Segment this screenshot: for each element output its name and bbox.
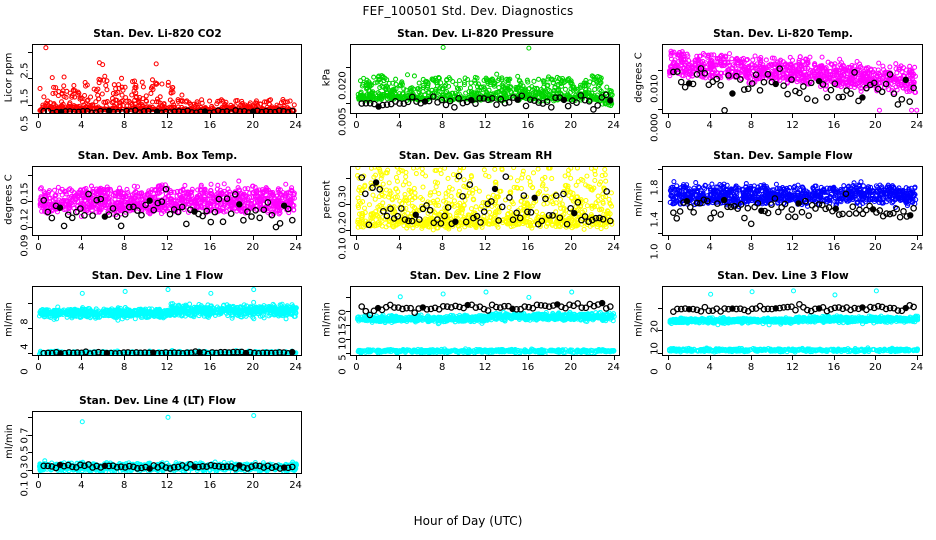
panel-3: Stan. Dev. Li-820 Temp.0.0000.0100481216… [630, 28, 936, 150]
plot-area [350, 166, 620, 236]
x-tick-mark [81, 236, 82, 240]
x-tick-mark [296, 114, 297, 118]
x-tick-mark [614, 236, 615, 240]
y-axis-label: kPa [322, 43, 333, 113]
x-tick-label: 8 [736, 242, 766, 253]
x-tick-mark [124, 236, 125, 240]
y-axis-label: degrees C [4, 165, 15, 235]
y-tick-label: 0.020 [338, 65, 349, 105]
x-tick-mark [614, 114, 615, 118]
x-tick-mark [167, 114, 168, 118]
x-tick-mark [81, 474, 82, 478]
x-tick-label: 4 [695, 242, 725, 253]
x-tick-label: 4 [384, 362, 414, 373]
panel-9: Stan. Dev. Line 3 Flow0102004812162024ml… [630, 270, 936, 392]
x-tick-mark [124, 356, 125, 360]
x-tick-mark [834, 236, 835, 240]
x-tick-mark [442, 114, 443, 118]
x-tick-label: 0 [653, 242, 683, 253]
x-tick-mark [442, 236, 443, 240]
plot-area [662, 286, 923, 356]
x-tick-mark [356, 236, 357, 240]
x-tick-label: 0 [23, 242, 53, 253]
x-tick-mark [751, 114, 752, 118]
panel-2: Stan. Dev. Li-820 Pressure0.0050.0200481… [318, 28, 633, 150]
scatter-points [33, 167, 302, 236]
x-tick-label: 16 [513, 362, 543, 373]
x-tick-mark [124, 474, 125, 478]
panel-title: Stan. Dev. Li-820 Temp. [630, 28, 936, 40]
y-tick-label: 20 [650, 306, 661, 346]
x-tick-mark [571, 356, 572, 360]
x-tick-label: 4 [66, 362, 96, 373]
x-tick-label: 8 [109, 242, 139, 253]
x-tick-mark [399, 356, 400, 360]
panel-title: Stan. Dev. Line 2 Flow [318, 270, 633, 282]
x-tick-label: 8 [109, 362, 139, 373]
panel-5: Stan. Dev. Gas Stream RH0.100.200.300481… [318, 150, 633, 272]
plot-area [32, 411, 302, 474]
x-tick-mark [81, 356, 82, 360]
panel-title: Stan. Dev. Line 1 Flow [0, 270, 315, 282]
x-tick-mark [253, 236, 254, 240]
x-tick-mark [528, 114, 529, 118]
panel-6: Stan. Dev. Sample Flow1.01.41.8048121620… [630, 150, 936, 272]
x-tick-label: 24 [281, 242, 311, 253]
x-tick-label: 16 [195, 480, 225, 491]
x-tick-label: 8 [736, 120, 766, 131]
y-tick-label: 0.7 [20, 415, 31, 455]
panel-title: Stan. Dev. Gas Stream RH [318, 150, 633, 162]
plot-area [662, 44, 923, 114]
x-tick-label: 0 [341, 120, 371, 131]
x-tick-label: 12 [778, 362, 808, 373]
panel-title: Stan. Dev. Li-820 CO2 [0, 28, 315, 40]
panel-8: Stan. Dev. Line 2 Flow051015200481216202… [318, 270, 633, 392]
x-tick-label: 8 [427, 362, 457, 373]
panel-title: Stan. Dev. Line 3 Flow [630, 270, 936, 282]
x-tick-label: 24 [599, 362, 629, 373]
x-tick-label: 20 [556, 362, 586, 373]
scatter-points [663, 287, 923, 356]
x-tick-label: 0 [653, 120, 683, 131]
x-tick-label: 16 [195, 242, 225, 253]
scatter-points [663, 167, 923, 236]
x-tick-label: 12 [152, 120, 182, 131]
x-tick-mark [751, 236, 752, 240]
y-tick-label: 0.15 [20, 174, 31, 214]
panel-title: Stan. Dev. Line 4 (LT) Flow [0, 395, 315, 407]
x-tick-label: 4 [695, 120, 725, 131]
x-tick-mark [167, 236, 168, 240]
x-tick-label: 12 [152, 480, 182, 491]
x-tick-label: 12 [152, 242, 182, 253]
x-tick-mark [668, 114, 669, 118]
plot-area [32, 166, 302, 236]
x-tick-mark [917, 356, 918, 360]
x-tick-label: 24 [902, 242, 932, 253]
x-tick-mark [356, 356, 357, 360]
x-tick-label: 20 [860, 242, 890, 253]
x-tick-mark [399, 236, 400, 240]
y-axis-label: percent [322, 165, 333, 235]
x-tick-mark [917, 236, 918, 240]
x-tick-mark [38, 356, 39, 360]
x-tick-label: 12 [470, 362, 500, 373]
x-tick-mark [210, 356, 211, 360]
x-tick-mark [834, 356, 835, 360]
plot-area [32, 286, 302, 356]
x-tick-label: 0 [23, 480, 53, 491]
x-tick-mark [442, 356, 443, 360]
y-tick-label: 20 [338, 296, 349, 336]
x-tick-label: 4 [66, 480, 96, 491]
panel-4: Stan. Dev. Amb. Box Temp.0.090.120.15048… [0, 150, 315, 272]
x-tick-mark [356, 114, 357, 118]
y-tick-label: 1.8 [650, 168, 661, 208]
x-tick-mark [210, 236, 211, 240]
y-tick-label: 2.5 [20, 50, 31, 90]
x-tick-label: 24 [281, 120, 311, 131]
x-tick-mark [875, 236, 876, 240]
x-tick-label: 4 [384, 242, 414, 253]
x-tick-mark [751, 356, 752, 360]
scatter-points [33, 287, 302, 356]
x-tick-label: 20 [556, 120, 586, 131]
panel-title: Stan. Dev. Li-820 Pressure [318, 28, 633, 40]
x-tick-mark [528, 236, 529, 240]
x-tick-label: 20 [860, 362, 890, 373]
x-tick-mark [710, 356, 711, 360]
x-tick-label: 12 [152, 362, 182, 373]
x-tick-label: 8 [427, 242, 457, 253]
x-tick-label: 24 [599, 242, 629, 253]
x-tick-label: 24 [599, 120, 629, 131]
x-tick-mark [124, 114, 125, 118]
x-tick-mark [917, 114, 918, 118]
panel-10: Stan. Dev. Line 4 (LT) Flow0.10.30.50.70… [0, 395, 315, 510]
x-tick-mark [571, 236, 572, 240]
y-axis-label: degrees C [634, 43, 645, 113]
y-tick-label: 0.010 [650, 68, 661, 108]
x-tick-label: 20 [860, 120, 890, 131]
plot-area [350, 286, 620, 356]
scatter-points [351, 287, 620, 356]
y-tick-label: 8 [20, 301, 31, 341]
x-tick-label: 24 [902, 120, 932, 131]
x-tick-mark [399, 114, 400, 118]
x-tick-label: 16 [819, 242, 849, 253]
x-tick-mark [167, 474, 168, 478]
x-tick-label: 12 [470, 120, 500, 131]
x-tick-label: 4 [695, 362, 725, 373]
x-tick-label: 16 [513, 242, 543, 253]
y-axis-label: ml/min [322, 285, 333, 355]
x-tick-mark [571, 114, 572, 118]
x-tick-label: 20 [238, 120, 268, 131]
x-tick-mark [253, 356, 254, 360]
figure-xaxis-label: Hour of Day (UTC) [0, 514, 936, 528]
x-tick-mark [528, 356, 529, 360]
scatter-points [351, 167, 620, 236]
x-tick-mark [792, 236, 793, 240]
x-tick-label: 20 [238, 362, 268, 373]
x-tick-mark [875, 114, 876, 118]
x-tick-label: 12 [778, 242, 808, 253]
x-tick-label: 16 [195, 120, 225, 131]
y-tick-label: 0.30 [338, 176, 349, 216]
x-tick-mark [834, 114, 835, 118]
page-title: FEF_100501 Std. Dev. Diagnostics [0, 4, 936, 18]
x-tick-label: 12 [470, 242, 500, 253]
x-tick-mark [875, 356, 876, 360]
x-tick-label: 0 [23, 120, 53, 131]
x-tick-mark [792, 114, 793, 118]
diagnostics-figure: FEF_100501 Std. Dev. Diagnostics Stan. D… [0, 0, 936, 540]
x-tick-label: 16 [819, 362, 849, 373]
x-tick-mark [668, 356, 669, 360]
x-tick-mark [38, 236, 39, 240]
x-tick-label: 12 [778, 120, 808, 131]
x-tick-mark [38, 114, 39, 118]
x-tick-mark [296, 474, 297, 478]
x-tick-mark [668, 236, 669, 240]
x-tick-label: 24 [902, 362, 932, 373]
x-tick-mark [485, 356, 486, 360]
scatter-points [351, 45, 620, 114]
x-tick-label: 24 [281, 480, 311, 491]
scatter-points [33, 412, 302, 474]
scatter-points [663, 45, 923, 114]
x-tick-label: 0 [341, 242, 371, 253]
x-tick-label: 16 [195, 362, 225, 373]
y-axis-label: Licor ppm [4, 43, 15, 113]
panel-title: Stan. Dev. Sample Flow [630, 150, 936, 162]
x-tick-mark [81, 114, 82, 118]
x-tick-label: 4 [384, 120, 414, 131]
x-tick-mark [710, 236, 711, 240]
x-tick-label: 20 [556, 242, 586, 253]
x-tick-mark [485, 114, 486, 118]
x-tick-label: 16 [819, 120, 849, 131]
panel-7: Stan. Dev. Line 1 Flow04804812162024ml/m… [0, 270, 315, 392]
x-tick-mark [38, 474, 39, 478]
x-tick-label: 0 [23, 362, 53, 373]
x-tick-label: 8 [736, 362, 766, 373]
x-tick-mark [485, 236, 486, 240]
x-tick-label: 4 [66, 120, 96, 131]
plot-area [662, 166, 923, 236]
x-tick-label: 8 [109, 120, 139, 131]
panel-1: Stan. Dev. Li-820 CO20.51.52.50481216202… [0, 28, 315, 150]
x-tick-label: 20 [238, 480, 268, 491]
y-axis-label: ml/min [4, 410, 15, 473]
x-tick-label: 8 [427, 120, 457, 131]
plot-area [350, 44, 620, 114]
panel-title: Stan. Dev. Amb. Box Temp. [0, 150, 315, 162]
x-tick-mark [210, 114, 211, 118]
x-tick-label: 4 [66, 242, 96, 253]
x-tick-label: 8 [109, 480, 139, 491]
x-tick-label: 16 [513, 120, 543, 131]
y-axis-label: ml/min [634, 285, 645, 355]
x-tick-mark [210, 474, 211, 478]
x-tick-label: 0 [653, 362, 683, 373]
x-tick-label: 24 [281, 362, 311, 373]
x-tick-mark [167, 356, 168, 360]
x-tick-mark [710, 114, 711, 118]
x-tick-label: 20 [238, 242, 268, 253]
x-tick-label: 0 [341, 362, 371, 373]
x-tick-mark [614, 356, 615, 360]
x-tick-mark [253, 114, 254, 118]
x-tick-mark [253, 474, 254, 478]
y-axis-label: ml/min [634, 165, 645, 235]
scatter-points [33, 45, 302, 114]
x-tick-mark [792, 356, 793, 360]
x-tick-mark [296, 236, 297, 240]
y-axis-label: ml/min [4, 285, 15, 355]
plot-area [32, 44, 302, 114]
x-tick-mark [296, 356, 297, 360]
